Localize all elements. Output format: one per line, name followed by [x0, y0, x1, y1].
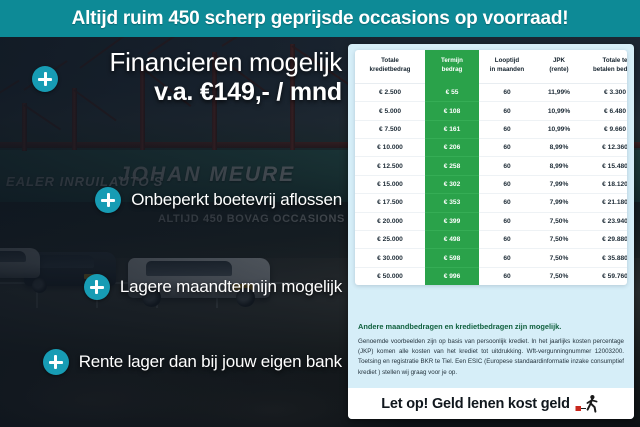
cell-duration: 60 — [479, 267, 535, 285]
cell-total-credit: € 30.000 — [355, 249, 425, 267]
cell-term-amount: € 598 — [425, 249, 479, 267]
cell-duration: 60 — [479, 194, 535, 212]
promo-banner-image: JOHAN MEURE EALER INRUILAUTO'S ALTIJD 45… — [0, 0, 640, 427]
cell-total-credit: € 10.000 — [355, 139, 425, 157]
cell-term-amount: € 108 — [425, 102, 479, 120]
banner-headline: Altijd ruim 450 scherp geprijsde occasio… — [72, 8, 569, 30]
benefit-item-2: Lagere maandtermijn mogelijk — [0, 274, 342, 300]
cell-jkp: 10,99% — [535, 102, 583, 120]
left-content-column: Financieren mogelijk v.a. €149,- / mnd O… — [0, 37, 348, 427]
credit-warning-bar: Let op! Geld lenen kost geld — [348, 388, 634, 419]
table-row: € 10.000€ 206608,99%€ 12.360 — [355, 139, 627, 157]
hero-headline: Financieren mogelijk v.a. €149,- / mnd — [0, 48, 342, 107]
cell-total-payable: € 21.180 — [583, 194, 627, 212]
cell-duration: 60 — [479, 230, 535, 248]
cell-jkp: 8,99% — [535, 157, 583, 175]
cell-total-payable: € 6.480 — [583, 102, 627, 120]
cell-term-amount: € 258 — [425, 157, 479, 175]
plus-icon — [84, 274, 110, 300]
rates-panel: Totale kredietbedrag Termijn bedrag Loop… — [348, 44, 634, 419]
cell-total-credit: € 5.000 — [355, 102, 425, 120]
column-header-total-credit: Totale kredietbedrag — [355, 50, 425, 83]
table-row: € 20.000€ 399607,50%€ 23.940 — [355, 212, 627, 230]
credit-rates-table: Totale kredietbedrag Termijn bedrag Loop… — [355, 50, 627, 285]
cell-duration: 60 — [479, 175, 535, 193]
column-header-term-amount: Termijn bedrag — [425, 50, 479, 83]
benefit-label-2: Lagere maandtermijn mogelijk — [120, 277, 342, 297]
cell-total-credit: € 25.000 — [355, 230, 425, 248]
table-row: € 25.000€ 498607,50%€ 29.880 — [355, 230, 627, 248]
cell-term-amount: € 206 — [425, 139, 479, 157]
table-row: € 12.500€ 258608,99%€ 15.480 — [355, 157, 627, 175]
cell-total-payable: € 3.300 — [583, 83, 627, 101]
disclaimer-title: Andere maandbedragen en kredietbedragen … — [358, 322, 624, 332]
benefit-item-3: Rente lager dan bij jouw eigen bank — [0, 349, 342, 375]
cell-term-amount: € 399 — [425, 212, 479, 230]
cell-total-credit: € 50.000 — [355, 267, 425, 285]
credit-warning-text: Let op! Geld lenen kost geld — [381, 396, 570, 412]
column-header-duration: Looptijd in maanden — [479, 50, 535, 83]
cell-jkp: 11,99% — [535, 83, 583, 101]
cell-jkp: 7,50% — [535, 230, 583, 248]
cell-total-payable: € 35.880 — [583, 249, 627, 267]
disclaimer-note: Andere maandbedragen en kredietbedragen … — [358, 322, 624, 378]
cell-duration: 60 — [479, 139, 535, 157]
table-row: € 7.500€ 1616010,99%€ 9.660 — [355, 120, 627, 138]
ball-and-chain-walker-icon — [575, 394, 601, 414]
hero-headline-line2: v.a. €149,- / mnd — [0, 77, 342, 107]
table-row: € 17.500€ 353607,99%€ 21.180 — [355, 194, 627, 212]
cell-total-payable: € 23.940 — [583, 212, 627, 230]
cell-duration: 60 — [479, 102, 535, 120]
cell-duration: 60 — [479, 157, 535, 175]
cell-total-credit: € 2.500 — [355, 83, 425, 101]
cell-duration: 60 — [479, 120, 535, 138]
cell-total-credit: € 15.000 — [355, 175, 425, 193]
rates-table-card: Totale kredietbedrag Termijn bedrag Loop… — [355, 50, 627, 285]
cell-jkp: 7,50% — [535, 212, 583, 230]
cell-total-payable: € 12.360 — [583, 139, 627, 157]
cell-term-amount: € 498 — [425, 230, 479, 248]
cell-term-amount: € 302 — [425, 175, 479, 193]
cell-total-payable: € 15.480 — [583, 157, 627, 175]
table-row: € 50.000€ 996607,50%€ 59.760 — [355, 267, 627, 285]
cell-duration: 60 — [479, 212, 535, 230]
benefit-label-1: Onbeperkt boetevrij aflossen — [131, 190, 342, 210]
cell-term-amount: € 161 — [425, 120, 479, 138]
table-row: € 2.500€ 556011,99%€ 3.300 — [355, 83, 627, 101]
column-header-jkp: JPK (rente) — [535, 50, 583, 83]
cell-term-amount: € 996 — [425, 267, 479, 285]
table-row: € 5.000€ 1086010,99%€ 6.480 — [355, 102, 627, 120]
plus-icon — [43, 349, 69, 375]
table-row: € 15.000€ 302607,99%€ 18.120 — [355, 175, 627, 193]
cell-term-amount: € 55 — [425, 83, 479, 101]
hero-headline-line1: Financieren mogelijk — [0, 48, 342, 77]
cell-total-credit: € 17.500 — [355, 194, 425, 212]
cell-jkp: 7,50% — [535, 249, 583, 267]
plus-icon — [95, 187, 121, 213]
table-header-row: Totale kredietbedrag Termijn bedrag Loop… — [355, 50, 627, 83]
cell-total-payable: € 59.760 — [583, 267, 627, 285]
cell-total-credit: € 12.500 — [355, 157, 425, 175]
top-banner: Altijd ruim 450 scherp geprijsde occasio… — [0, 0, 640, 37]
cell-total-payable: € 9.660 — [583, 120, 627, 138]
cell-duration: 60 — [479, 249, 535, 267]
cell-total-payable: € 18.120 — [583, 175, 627, 193]
benefit-item-1: Onbeperkt boetevrij aflossen — [0, 187, 342, 213]
cell-total-payable: € 29.880 — [583, 230, 627, 248]
cell-total-credit: € 20.000 — [355, 212, 425, 230]
table-body: € 2.500€ 556011,99%€ 3.300€ 5.000€ 10860… — [355, 83, 627, 285]
table-row: € 30.000€ 598607,50%€ 35.880 — [355, 249, 627, 267]
cell-jkp: 7,99% — [535, 175, 583, 193]
cell-jkp: 10,99% — [535, 120, 583, 138]
column-header-total-payable: Totale te betalen bedrag — [583, 50, 627, 83]
cell-total-credit: € 7.500 — [355, 120, 425, 138]
cell-jkp: 7,99% — [535, 194, 583, 212]
cell-jkp: 7,50% — [535, 267, 583, 285]
benefit-label-3: Rente lager dan bij jouw eigen bank — [79, 352, 342, 372]
cell-duration: 60 — [479, 83, 535, 101]
cell-term-amount: € 353 — [425, 194, 479, 212]
disclaimer-body: Genoemde voorbeelden zijn op basis van p… — [358, 337, 624, 377]
cell-jkp: 8,99% — [535, 139, 583, 157]
